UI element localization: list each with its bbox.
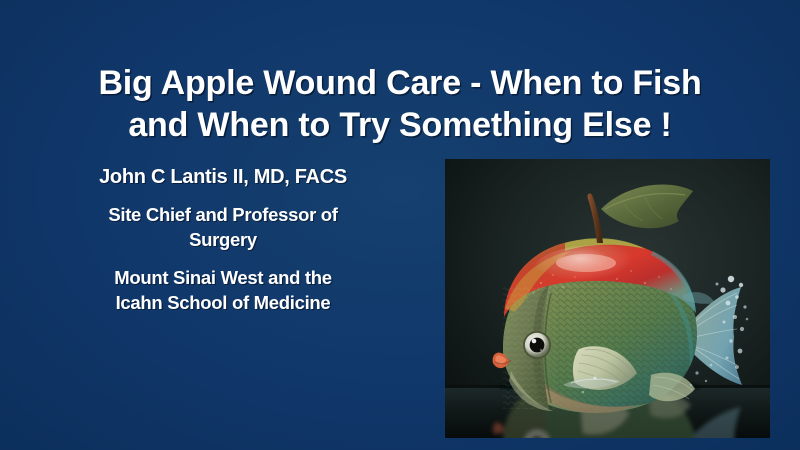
apple-fish-image [445, 159, 770, 438]
title-line-1: Big Apple Wound Care - When to Fish [28, 62, 772, 104]
title-line-2: and When to Try Something Else ! [28, 104, 772, 146]
slide-subtitle: John C Lantis II, MD, FACS Site Chief an… [48, 164, 398, 315]
affiliation-line-1: Mount Sinai West and the [48, 265, 398, 290]
presenter-affiliation: Mount Sinai West and the Icahn School of… [48, 265, 398, 315]
slide-title: Big Apple Wound Care - When to Fish and … [0, 62, 800, 146]
apple-fish-illustration [445, 159, 770, 438]
presenter-role: Site Chief and Professor of Surgery [48, 202, 398, 252]
presentation-slide: Big Apple Wound Care - When to Fish and … [0, 0, 800, 450]
fish-eye [523, 331, 551, 359]
role-line-2: Surgery [48, 227, 398, 252]
affiliation-line-2: Icahn School of Medicine [48, 290, 398, 315]
presenter-name: John C Lantis II, MD, FACS [48, 164, 398, 190]
role-line-1: Site Chief and Professor of [48, 202, 398, 227]
